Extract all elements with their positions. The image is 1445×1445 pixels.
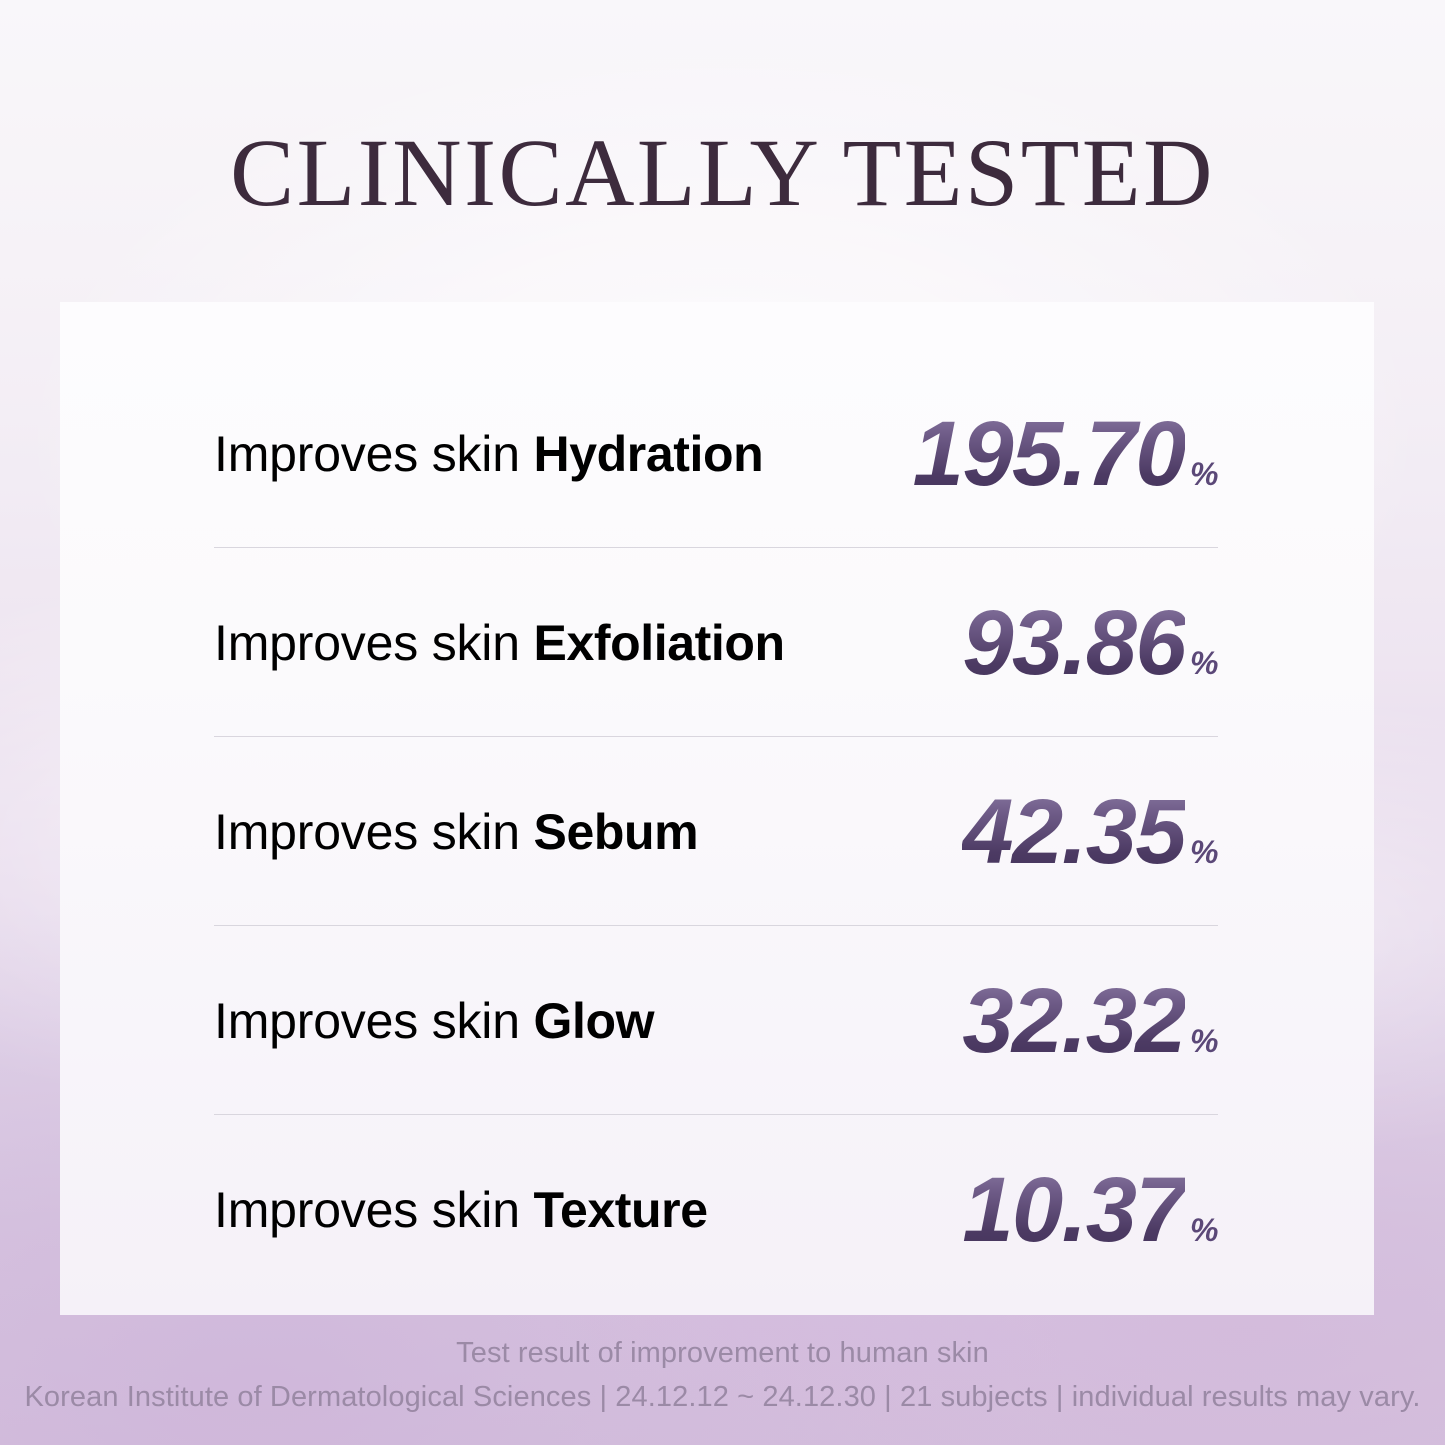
result-value-unit: %	[1190, 1024, 1218, 1058]
result-value: 93.86 %	[962, 595, 1218, 691]
results-card: Improves skin Hydration 195.70 % Improve…	[60, 302, 1374, 1315]
clinical-results-poster: CLINICALLY TESTED Improves skin Hydratio…	[0, 0, 1445, 1445]
result-label: Improves skin Sebum	[214, 804, 698, 860]
list-item: Improves skin Glow 32.32 %	[214, 926, 1218, 1115]
result-value-unit: %	[1190, 1213, 1218, 1247]
result-label-attribute: Hydration	[534, 426, 764, 482]
result-value-number: 32.32	[962, 973, 1185, 1069]
list-item: Improves skin Sebum 42.35 %	[214, 737, 1218, 926]
page-title: CLINICALLY TESTED	[0, 118, 1445, 228]
results-list: Improves skin Hydration 195.70 % Improve…	[214, 359, 1218, 1304]
result-value-unit: %	[1190, 457, 1218, 491]
result-value-number: 195.70	[913, 406, 1185, 502]
result-label-attribute: Exfoliation	[534, 615, 785, 671]
result-value-number: 93.86	[962, 595, 1185, 691]
result-value: 10.37 %	[962, 1162, 1218, 1258]
result-value: 42.35 %	[962, 784, 1218, 880]
result-label-attribute: Glow	[534, 993, 655, 1049]
result-label-prefix: Improves skin	[214, 426, 534, 482]
result-label: Improves skin Texture	[214, 1182, 708, 1238]
result-value-number: 42.35	[962, 784, 1185, 880]
result-label-prefix: Improves skin	[214, 1182, 534, 1238]
list-item: Improves skin Exfoliation 93.86 %	[214, 548, 1218, 737]
list-item: Improves skin Hydration 195.70 %	[214, 359, 1218, 548]
result-label-attribute: Sebum	[534, 804, 699, 860]
result-label-prefix: Improves skin	[214, 993, 534, 1049]
result-value-unit: %	[1190, 646, 1218, 680]
result-label-prefix: Improves skin	[214, 615, 534, 671]
result-label-attribute: Texture	[534, 1182, 708, 1238]
result-label: Improves skin Exfoliation	[214, 615, 785, 671]
result-label: Improves skin Glow	[214, 993, 654, 1049]
result-value-unit: %	[1190, 835, 1218, 869]
result-value-number: 10.37	[962, 1162, 1185, 1258]
result-label-prefix: Improves skin	[214, 804, 534, 860]
footer: Test result of improvement to human skin…	[0, 1332, 1445, 1418]
result-value: 195.70 %	[913, 406, 1218, 502]
footer-study-details: Korean Institute of Dermatological Scien…	[0, 1376, 1445, 1418]
footer-test-description: Test result of improvement to human skin	[0, 1332, 1445, 1374]
result-label: Improves skin Hydration	[214, 426, 763, 482]
list-item: Improves skin Texture 10.37 %	[214, 1115, 1218, 1304]
result-value: 32.32 %	[962, 973, 1218, 1069]
